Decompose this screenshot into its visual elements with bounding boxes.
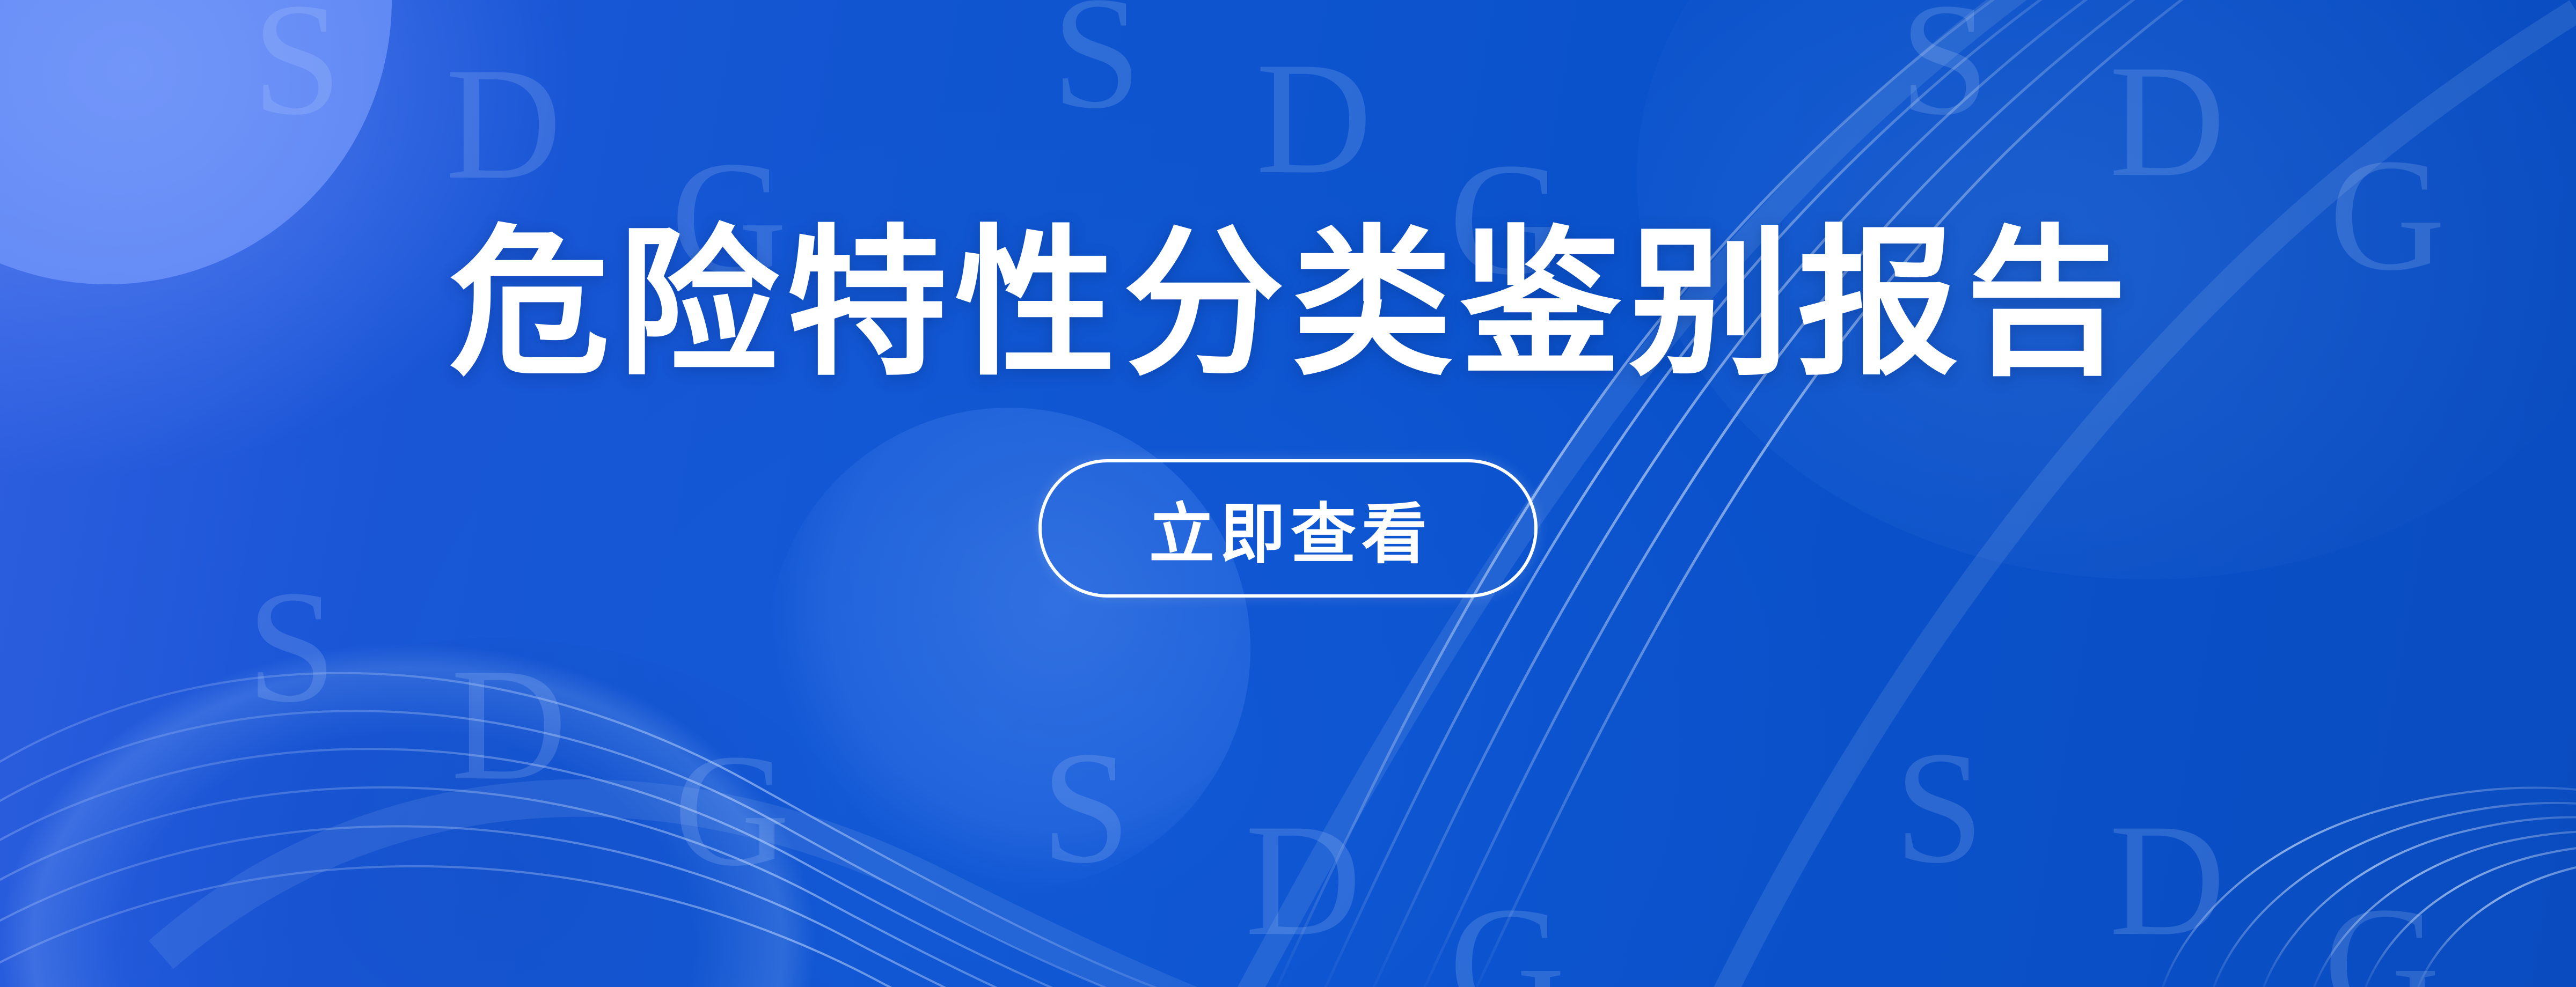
view-now-button-label: 立即查看 bbox=[1144, 481, 1432, 576]
view-now-button[interactable]: 立即查看 bbox=[1038, 459, 1538, 598]
page-title: 危险特性分类鉴别报告 bbox=[442, 213, 2134, 394]
promo-banner: SDGSDGSDGSDGSDGSDG 危险特性分类鉴别报告 立即查看 bbox=[0, 0, 2576, 987]
banner-content: 危险特性分类鉴别报告 立即查看 bbox=[0, 0, 2576, 987]
